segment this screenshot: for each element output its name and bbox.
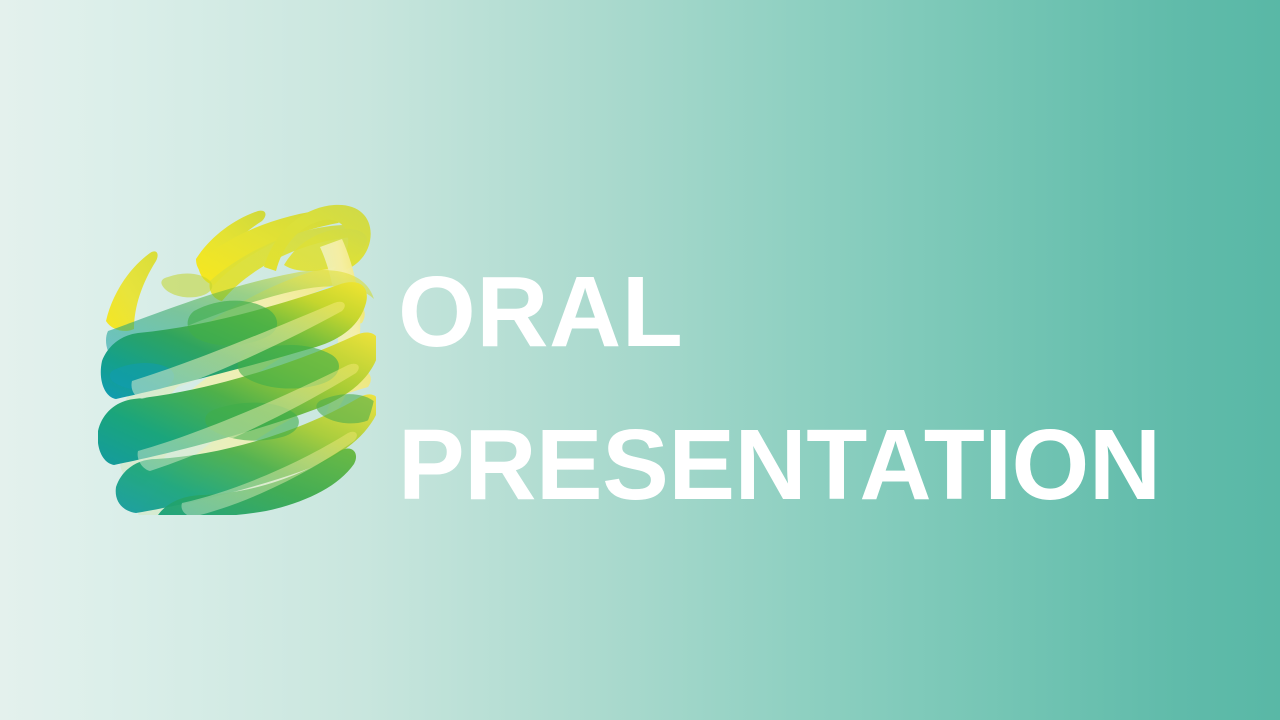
ribbon-globe-svg (98, 203, 376, 515)
slide-title-block: ORAL PRESENTATION (398, 236, 1228, 542)
presentation-slide: ORAL PRESENTATION (0, 0, 1280, 720)
ribbon-globe-logo (98, 203, 376, 515)
slide-title-line-1: ORAL (398, 236, 1228, 389)
slide-title-line-2: PRESENTATION (398, 389, 1228, 542)
globe-ribbons (98, 205, 376, 515)
